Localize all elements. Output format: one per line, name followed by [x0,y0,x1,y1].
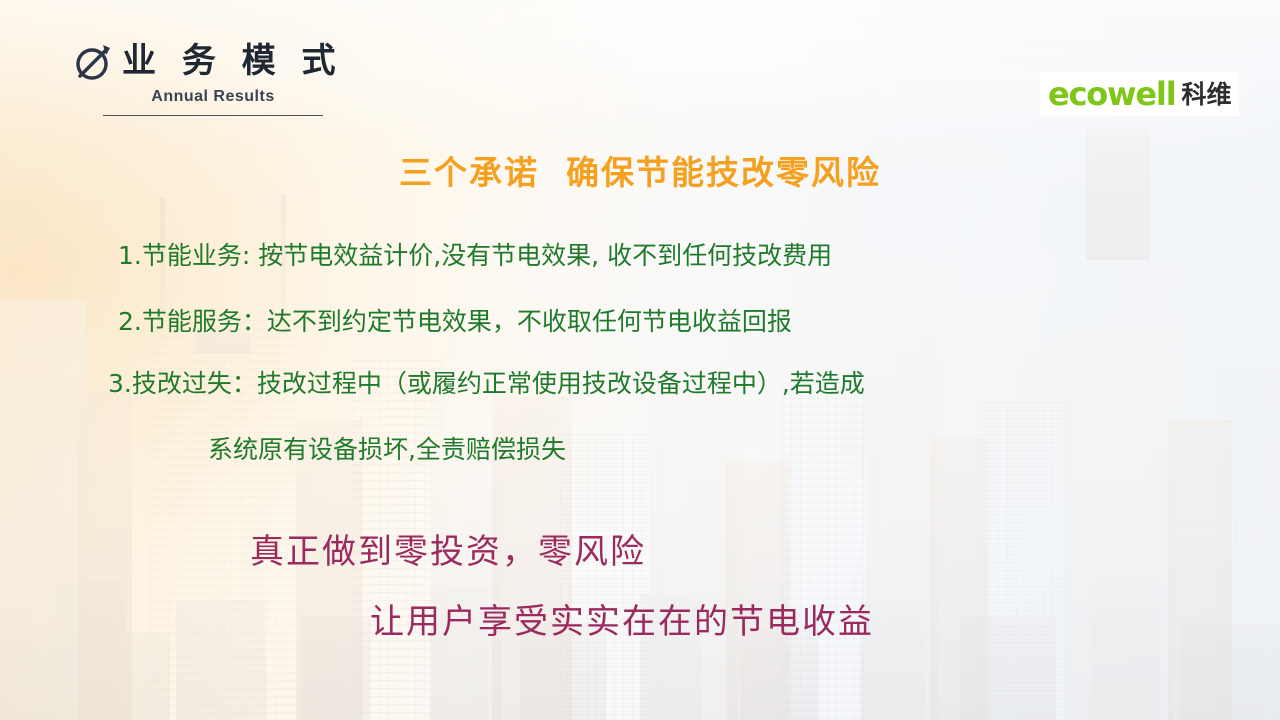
list-item: 2.节能服务：达不到约定节电效果，不收取任何节电收益回报 [118,302,792,338]
page-subtitle: Annual Results [103,88,323,106]
page-title: 业 务 模 式 [122,33,343,82]
list-item: 3.技改过失：技改过程中（或履约正常使用技改设备过程中）,若造成 [108,364,865,400]
list-item-continuation: 系统原有设备损坏,全责赔偿损失 [208,430,566,466]
presentation-slide: 业 务 模 式 Annual Results ecowell 科维 三个承诺 确… [0,0,1280,720]
closing-line-2: 让用户享受实实在在的节电收益 [370,594,874,643]
list-item: 1.节能业务: 按节电效益计价,没有节电效果, 收不到任何技改费用 [118,236,832,272]
content-headline: 三个承诺 确保节能技改零风险 [0,146,1280,194]
closing-line-1: 真正做到零投资，零风险 [250,524,646,573]
slashed-circle-icon [70,38,118,86]
logo-chinese-name: 科维 [1181,82,1231,107]
header-divider [103,115,323,116]
logo-wordmark: ecowell [1048,78,1175,110]
company-logo: ecowell 科维 [1040,72,1239,116]
